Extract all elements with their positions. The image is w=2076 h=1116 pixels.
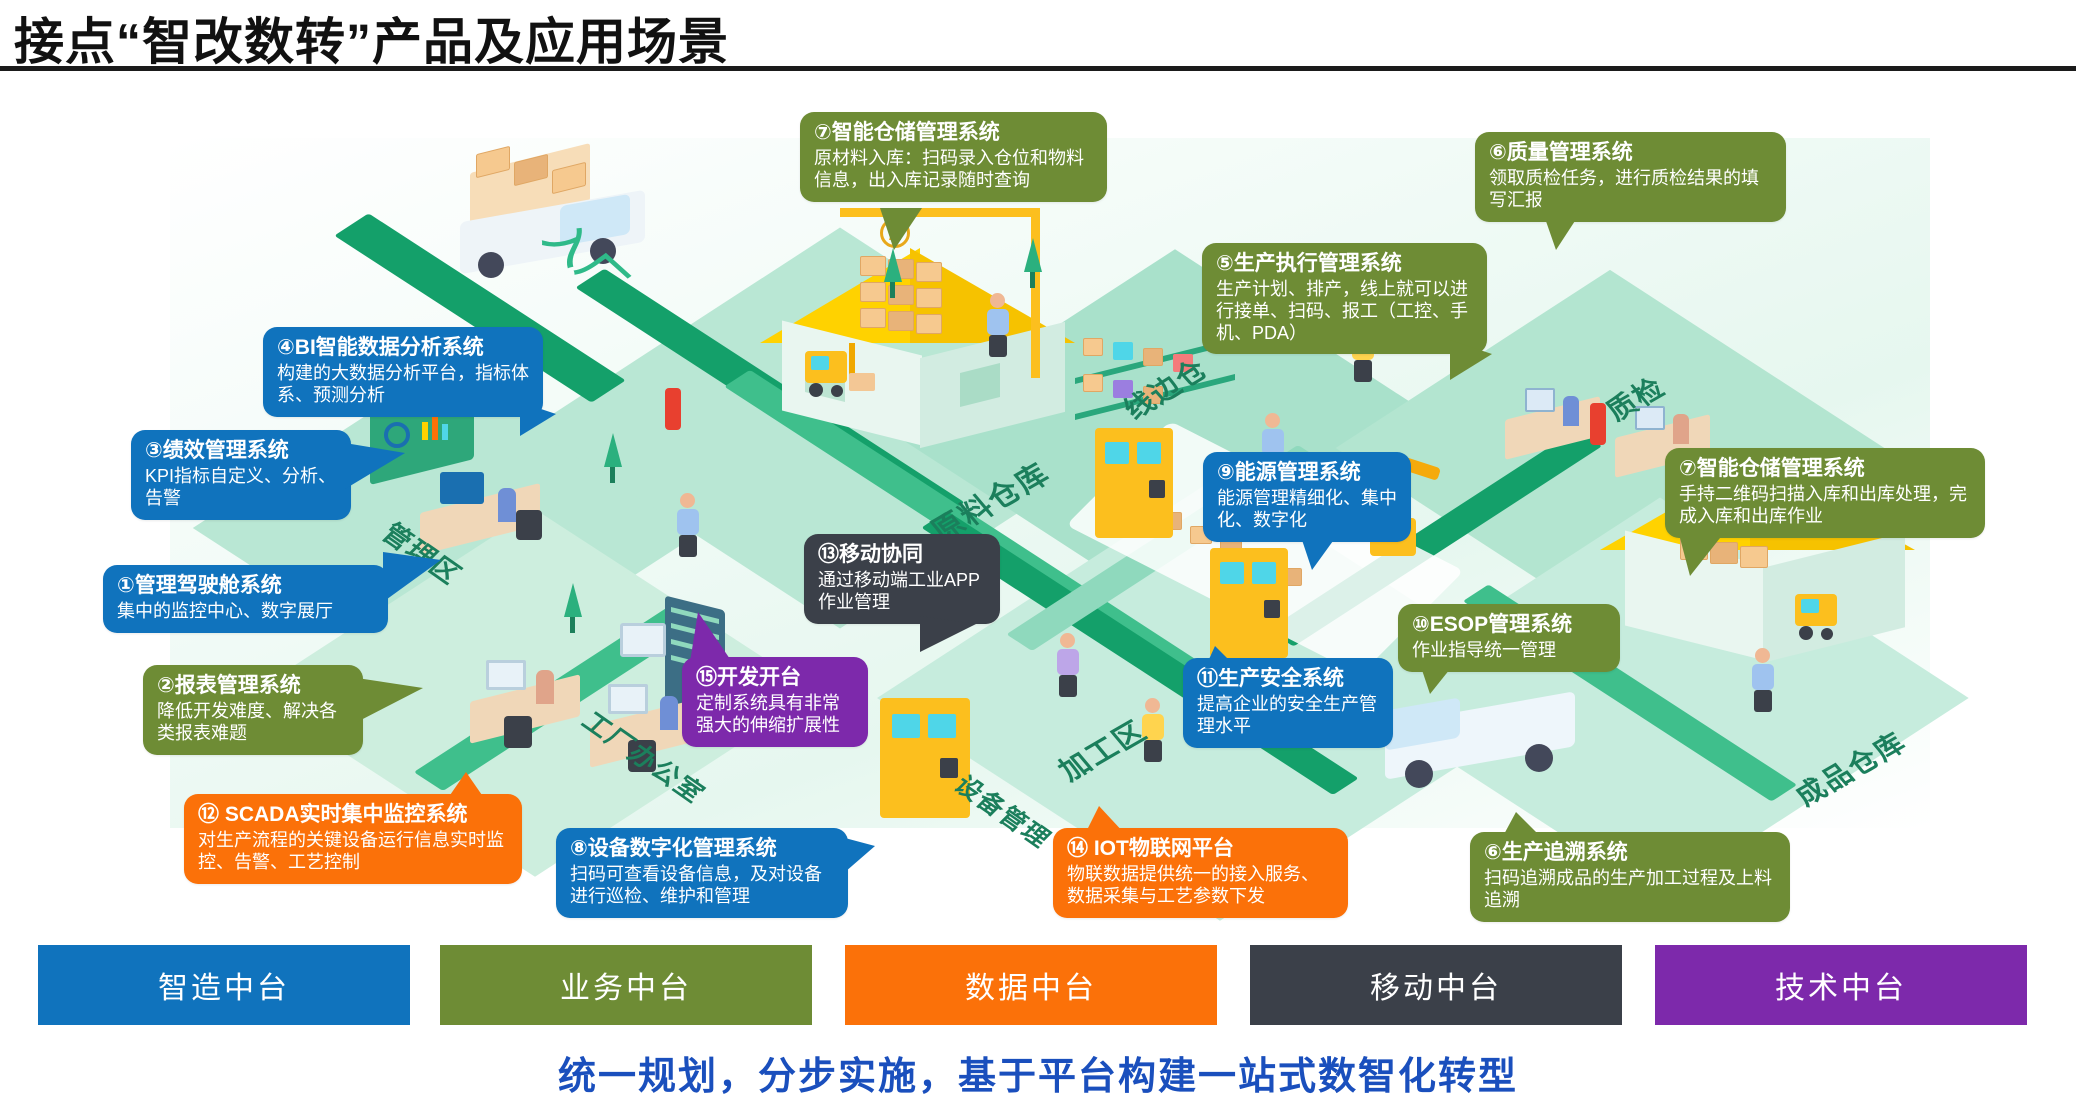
platform-pill-label: 智造中台: [158, 963, 290, 1007]
callout-title: ②报表管理系统: [157, 673, 349, 699]
callout-body: 通过移动端工业APP作业管理: [818, 570, 986, 614]
callout-warehouse-out[interactable]: ⑦智能仓储管理系统 手持二维码扫描入库和出库处理，完成入库和出库作业: [1665, 448, 1985, 538]
platform-pill-label: 移动中台: [1370, 963, 1502, 1007]
callout-tail-devplatform: [690, 612, 732, 662]
callout-tail-kpi: [345, 443, 405, 489]
callout-body: 降低开发难度、解决各类报表难题: [157, 701, 349, 745]
worker-figure: [1055, 633, 1081, 697]
callout-tail-trace: [1502, 812, 1542, 838]
worker-figure: [675, 493, 701, 557]
title-divider: [0, 66, 2076, 71]
callout-title: ⑨能源管理系统: [1217, 460, 1397, 486]
callout-kpi[interactable]: ③绩效管理系统 KPI指标自定义、分析、告警: [131, 430, 351, 520]
worker-figure: [1750, 648, 1776, 712]
callout-title: ③绩效管理系统: [145, 438, 337, 464]
callout-title: ⑫ SCADA实时集中监控系统: [198, 802, 508, 828]
callout-tail-energy: [1300, 534, 1338, 570]
callout-body: 提高企业的安全生产管理水平: [1197, 694, 1379, 738]
fire-extinguisher-icon: [1590, 403, 1606, 445]
callout-tail-bi: [520, 402, 556, 436]
platform-pill-zhizao[interactable]: 智造中台: [38, 945, 410, 1025]
platform-pill-shuju[interactable]: 数据中台: [845, 945, 1217, 1025]
cnc-machine-1: [1095, 428, 1173, 538]
tree-icon: [600, 433, 624, 485]
callout-tail-quality: [1540, 204, 1586, 250]
callout-tail-cockpit: [383, 552, 441, 602]
callout-tail-warehouse-out: [1680, 538, 1720, 576]
callout-tail-report: [357, 678, 423, 722]
footer-slogan: 统一规划，分步实施，基于平台构建一站式数智化转型: [0, 1045, 2076, 1100]
callout-tail-safety: [1205, 646, 1237, 668]
forklift-icon: [805, 343, 875, 401]
callout-body: 对生产流程的关键设备运行信息实时监控、告警、工艺控制: [198, 830, 508, 874]
callout-body: 手持二维码扫描入库和出库处理，完成入库和出库作业: [1679, 484, 1971, 528]
callout-bi[interactable]: ④BI智能数据分析系统 构建的大数据分析平台，指标体系、预测分析: [263, 327, 543, 417]
platform-pill-jishu[interactable]: 技术中台: [1655, 945, 2027, 1025]
callout-body: 构建的大数据分析平台，指标体系、预测分析: [277, 363, 529, 407]
platform-pill-label: 数据中台: [965, 963, 1097, 1007]
callout-title: ⑮开发开台: [696, 665, 854, 691]
callout-title: ⑪生产安全系统: [1197, 666, 1379, 692]
page-title: 接点“智改数转”产品及应用场景: [14, 2, 729, 74]
callout-scada[interactable]: ⑫ SCADA实时集中监控系统 对生产流程的关键设备运行信息实时监控、告警、工艺…: [184, 794, 522, 884]
callout-body: 作业指导统一管理: [1412, 640, 1606, 662]
callout-body: 能源管理精细化、集中化、数字化: [1217, 488, 1397, 532]
outbound-truck: [1365, 668, 1595, 808]
callout-mobile[interactable]: ⑬移动协同 通过移动端工业APP作业管理: [804, 534, 1000, 624]
callout-equipment[interactable]: ⑧设备数字化管理系统 扫码可查看设备信息，及对设备进行巡检、维护和管理: [556, 828, 848, 918]
callout-body: 领取质检任务，进行质检结果的填写汇报: [1489, 168, 1772, 212]
callout-warehouse-in[interactable]: ⑦智能仓储管理系统 原材料入库：扫码录入仓位和物料信息，出入库记录随时查询: [800, 112, 1107, 202]
worker-figure: [985, 293, 1011, 357]
callout-title: ⑥生产追溯系统: [1484, 840, 1776, 866]
cnc-machine-2: [1210, 548, 1288, 658]
callout-energy[interactable]: ⑨能源管理系统 能源管理精细化、集中化、数字化: [1203, 452, 1411, 542]
callout-trace[interactable]: ⑥生产追溯系统 扫码追溯成品的生产加工过程及上料追溯: [1470, 832, 1790, 922]
callout-quality[interactable]: ⑥质量管理系统 领取质检任务，进行质检结果的填写汇报: [1475, 132, 1786, 222]
callout-tail-equipment: [845, 838, 875, 872]
callout-safety[interactable]: ⑪生产安全系统 提高企业的安全生产管理水平: [1183, 658, 1393, 748]
callout-tail-scada: [448, 772, 484, 798]
infographic-page: 接点“智改数转”产品及应用场景: [0, 0, 2076, 1116]
platform-bar: 智造中台 业务中台 数据中台 移动中台 技术中台: [0, 945, 2076, 1031]
callout-title: ⑩ESOP管理系统: [1412, 612, 1606, 638]
callout-title: ⑬移动协同: [818, 542, 986, 568]
fire-extinguisher-icon: [665, 388, 681, 430]
callout-cockpit[interactable]: ①管理驾驶舱系统 集中的监控中心、数字展厅: [103, 565, 388, 633]
callout-title: ⑦智能仓储管理系统: [1679, 456, 1971, 482]
tree-icon: [560, 583, 584, 635]
callout-body: 物联数据提供统一的接入服务、数据采集与工艺参数下发: [1067, 864, 1334, 908]
finished-warehouse-forklift: [1795, 586, 1865, 644]
callout-tail-mobile: [920, 616, 976, 652]
callout-title: ④BI智能数据分析系统: [277, 335, 529, 361]
platform-pill-yewu[interactable]: 业务中台: [440, 945, 812, 1025]
callout-title: ⑧设备数字化管理系统: [570, 836, 834, 862]
callout-mes[interactable]: ⑤生产执行管理系统 生产计划、排产，线上就可以进行接单、扫码、报工（工控、手机、…: [1202, 243, 1487, 354]
tree-icon: [880, 248, 904, 300]
callout-body: 生产计划、排产，线上就可以进行接单、扫码、报工（工控、手机、PDA）: [1216, 279, 1473, 345]
callout-title: ⑥质量管理系统: [1489, 140, 1772, 166]
callout-title: ⑤生产执行管理系统: [1216, 251, 1473, 277]
callout-title: ①管理驾驶舱系统: [117, 573, 374, 599]
callout-title: ⑭ IOT物联网平台: [1067, 836, 1334, 862]
platform-pill-yidong[interactable]: 移动中台: [1250, 945, 1622, 1025]
title-bar: 接点“智改数转”产品及应用场景: [0, 0, 2076, 76]
callout-report[interactable]: ②报表管理系统 降低开发难度、解决各类报表难题: [143, 665, 363, 755]
callout-tail-mes: [1450, 340, 1492, 380]
callout-body: 扫码可查看设备信息，及对设备进行巡检、维护和管理: [570, 864, 834, 908]
callout-iot[interactable]: ⑭ IOT物联网平台 物联数据提供统一的接入服务、数据采集与工艺参数下发: [1053, 828, 1348, 918]
callout-body: KPI指标自定义、分析、告警: [145, 466, 337, 510]
callout-tail-warehouse-in: [880, 208, 922, 250]
callout-tail-esop: [1420, 664, 1454, 694]
platform-pill-label: 业务中台: [560, 963, 692, 1007]
callout-body: 集中的监控中心、数字展厅: [117, 601, 374, 623]
platform-pill-label: 技术中台: [1775, 963, 1907, 1007]
callout-body: 定制系统具有非常强大的伸缩扩展性: [696, 693, 854, 737]
callout-body: 扫码追溯成品的生产加工过程及上料追溯: [1484, 868, 1776, 912]
callout-title: ⑦智能仓储管理系统: [814, 120, 1093, 146]
callout-devplatform[interactable]: ⑮开发开台 定制系统具有非常强大的伸缩扩展性: [682, 657, 868, 747]
callout-esop[interactable]: ⑩ESOP管理系统 作业指导统一管理: [1398, 604, 1620, 672]
tree-icon: [1020, 238, 1044, 290]
callout-body: 原材料入库：扫码录入仓位和物料信息，出入库记录随时查询: [814, 148, 1093, 192]
callout-tail-iot: [1085, 806, 1125, 834]
